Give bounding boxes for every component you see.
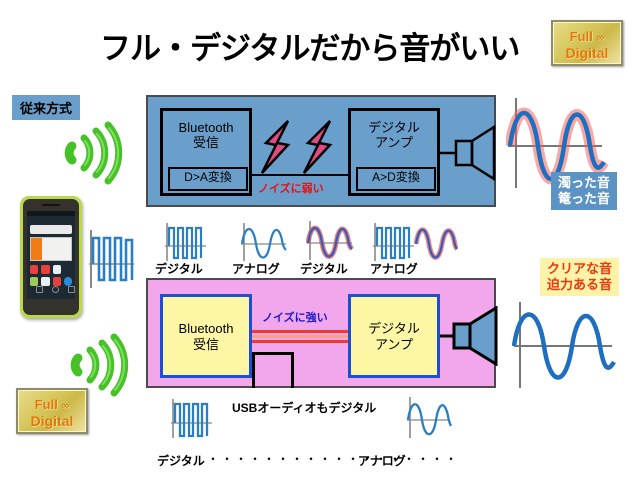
amp-label-line1-b: デジタル xyxy=(351,297,437,337)
nav-home-icon xyxy=(52,286,59,293)
full-digital-badge-top: Full ∞ Digital xyxy=(551,20,623,66)
phone-earpiece xyxy=(42,204,60,206)
speaker-icon-bottom xyxy=(440,306,502,366)
app-icon-empty xyxy=(64,265,72,274)
phone-screen xyxy=(27,211,75,299)
receiver-label-line1-b: Bluetooth xyxy=(163,297,249,337)
noise-weak-note: ノイズに弱い xyxy=(258,180,324,196)
waveform-label-digital-1: デジタル xyxy=(155,260,203,277)
app-icon xyxy=(30,265,38,274)
badge-line2: Digital xyxy=(553,46,621,61)
waveform-label-analog-2: アナログ xyxy=(370,260,418,277)
muddy-sound-line1: 濁った音 xyxy=(558,175,610,191)
receiver-label-line2-b: 受信 xyxy=(163,337,249,353)
waveform-analog-bottom xyxy=(406,396,452,440)
nav-back-icon xyxy=(36,286,43,293)
usb-branch-vertical-2 xyxy=(291,352,294,388)
waveform-analog-1 xyxy=(240,222,288,262)
waveform-digital-bottom xyxy=(170,398,214,440)
amp-label-line2-b: アンプ xyxy=(351,337,437,353)
phone-statusbar xyxy=(27,211,75,216)
bluetooth-receiver-block-bottom: Bluetooth 受信 xyxy=(160,294,252,378)
waveform-digital-2-noisy xyxy=(306,220,354,262)
smartphone-device xyxy=(20,196,82,318)
digital-link-line-1 xyxy=(252,330,348,333)
digital-link-line-3 xyxy=(252,340,348,343)
app-icon xyxy=(53,265,61,274)
digital-amp-block-top: デジタル アンプ A>D変換 xyxy=(348,108,440,196)
clear-output-waveform xyxy=(512,300,622,390)
infinity-icon-bottom: ∞ xyxy=(61,400,69,412)
badge-line1: Full xyxy=(570,29,593,44)
infinity-icon: ∞ xyxy=(596,32,604,44)
amp-label-line2: アンプ xyxy=(351,135,437,150)
usb-branch-horizontal xyxy=(252,352,294,355)
app-icon xyxy=(41,265,49,274)
phone-nav-bar xyxy=(31,285,75,294)
waveform-label-digital-2: デジタル xyxy=(300,260,348,277)
dac-converter-block: D>A変換 xyxy=(168,167,248,191)
clear-sound-line1: クリアな音 xyxy=(547,261,612,277)
conventional-method-tag: 従来方式 xyxy=(12,95,80,120)
nav-menu-icon xyxy=(68,286,75,293)
wifi-signal-icon-top xyxy=(62,120,132,186)
widget-accent xyxy=(31,238,42,260)
lightning-bolt-icon-2 xyxy=(300,119,340,175)
waveform-label-analog-1: アナログ xyxy=(232,260,280,277)
amp-label-line1: デジタル xyxy=(351,111,437,135)
lightning-bolt-icon-1 xyxy=(258,119,298,175)
conventional-signal-chain-panel: Bluetooth 受信 D>A変換 ノイズに弱い デジタル アンプ A>D変換 xyxy=(146,95,496,207)
wifi-signal-icon-bottom xyxy=(68,332,138,398)
phone-digital-waveform xyxy=(88,228,136,290)
dotted-connector: ・・・・・・・・・・・・・・・・・・ xyxy=(207,450,459,467)
digital-amp-block-bottom: デジタル アンプ xyxy=(348,294,440,378)
phone-search-widget xyxy=(30,225,72,234)
badge-line2-b: Digital xyxy=(18,414,86,429)
muddy-sound-label: 濁った音 篭った音 xyxy=(551,172,617,210)
phone-news-widget xyxy=(30,237,72,261)
clear-sound-label: クリアな音 迫力ある音 xyxy=(540,258,619,296)
usb-audio-note: USBオーディオもデジタル xyxy=(232,399,376,416)
waveform-label-digital-bottom: デジタル xyxy=(157,452,205,469)
usb-branch-vertical-1 xyxy=(252,352,255,388)
full-digital-signal-chain-panel: Bluetooth 受信 ノイズに強い デジタル アンプ xyxy=(146,278,496,388)
bluetooth-receiver-block-top: Bluetooth 受信 D>A変換 xyxy=(160,108,252,196)
receiver-label-line2: 受信 xyxy=(163,135,249,150)
waveform-analog-2 xyxy=(372,222,416,262)
phone-icon-row-1 xyxy=(30,265,72,274)
waveform-digital-1 xyxy=(164,222,208,262)
waveform-label-analog-bottom: アナログ xyxy=(358,452,406,469)
noise-strong-note: ノイズに強い xyxy=(262,309,328,325)
waveform-noisy-extra xyxy=(414,222,458,262)
phone-body xyxy=(23,199,79,315)
receiver-label-line1: Bluetooth xyxy=(163,111,249,135)
phone-app-icons xyxy=(30,265,72,286)
adc-converter-block: A>D変換 xyxy=(356,167,436,191)
page-title: フル・デジタルだから音がいい xyxy=(100,26,530,72)
digital-link-line-2 xyxy=(252,335,348,338)
speaker-icon-top xyxy=(440,125,500,181)
muddy-sound-line2: 篭った音 xyxy=(558,191,610,207)
clear-sound-line2: 迫力ある音 xyxy=(547,277,612,293)
badge-line1-b: Full xyxy=(35,397,58,412)
